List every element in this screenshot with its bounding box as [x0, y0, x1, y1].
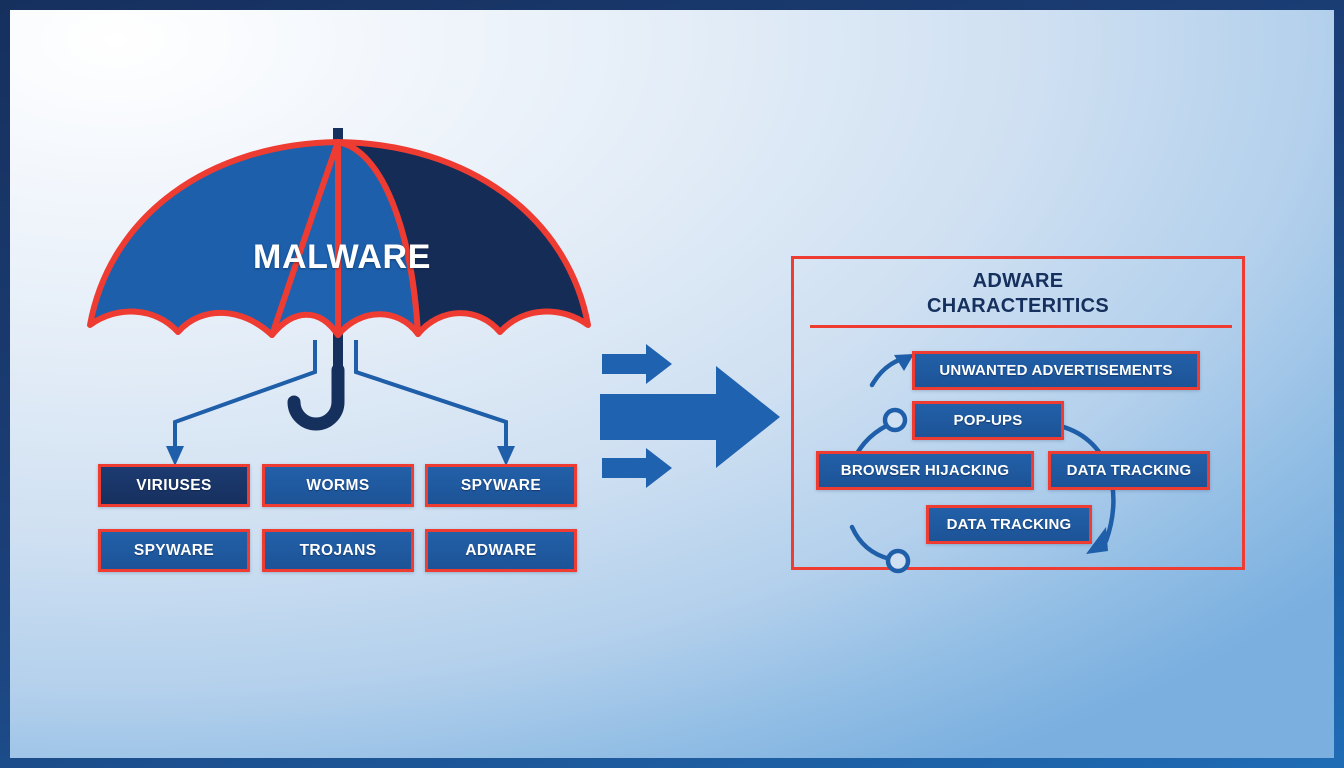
diagram-canvas: MALWARE VIRIUSES WORMS SPYWARE SPYWARE	[0, 0, 1344, 768]
panel-curve-left-lower	[852, 527, 890, 559]
malware-box-viriuses[interactable]: VIRIUSES	[98, 464, 250, 507]
connector-right	[356, 340, 506, 448]
panel-box-label: BROWSER HIJACKING	[841, 462, 1009, 479]
panel-box-pop-ups[interactable]: POP-UPS	[912, 401, 1064, 440]
malware-box-label: WORMS	[306, 477, 369, 495]
malware-box-spyware-1[interactable]: SPYWARE	[425, 464, 577, 507]
panel-box-label: DATA TRACKING	[947, 516, 1072, 533]
panel-box-data-tracking-bottom[interactable]: DATA TRACKING	[926, 505, 1092, 544]
panel-node-circle-upper	[885, 410, 905, 430]
malware-box-label: ADWARE	[465, 542, 536, 560]
diagram-stage: MALWARE VIRIUSES WORMS SPYWARE SPYWARE	[10, 10, 1334, 758]
panel-box-label: DATA TRACKING	[1067, 462, 1192, 479]
panel-box-data-tracking-right[interactable]: DATA TRACKING	[1048, 451, 1210, 490]
connector-right-arrowhead	[497, 446, 515, 466]
flow-arrow-small-bottom	[602, 448, 672, 488]
malware-box-trojans[interactable]: TROJANS	[262, 529, 414, 572]
panel-box-browser-hijacking[interactable]: BROWSER HIJACKING	[816, 451, 1034, 490]
flow-arrow-small-top	[602, 344, 672, 384]
malware-box-label: TROJANS	[300, 542, 377, 560]
malware-box-spyware-2[interactable]: SPYWARE	[98, 529, 250, 572]
malware-box-label: SPYWARE	[461, 477, 541, 495]
panel-curve-to-unwanted	[872, 359, 902, 385]
panel-box-label: UNWANTED ADVERTISEMENTS	[939, 362, 1172, 379]
flow-arrow-large	[600, 366, 780, 468]
panel-box-label: POP-UPS	[954, 412, 1023, 429]
malware-box-adware[interactable]: ADWARE	[425, 529, 577, 572]
connector-left	[175, 340, 315, 448]
panel-box-unwanted-advertisements[interactable]: UNWANTED ADVERTISEMENTS	[912, 351, 1200, 390]
malware-box-label: VIRIUSES	[136, 477, 212, 495]
flow-arrows	[600, 342, 785, 497]
malware-box-label: SPYWARE	[134, 542, 214, 560]
malware-box-worms[interactable]: WORMS	[262, 464, 414, 507]
panel-node-circle-lower	[888, 551, 908, 571]
adware-characteristics-panel: ADWARE CHARACTERITICS	[791, 256, 1245, 570]
connector-left-arrowhead	[166, 446, 184, 466]
